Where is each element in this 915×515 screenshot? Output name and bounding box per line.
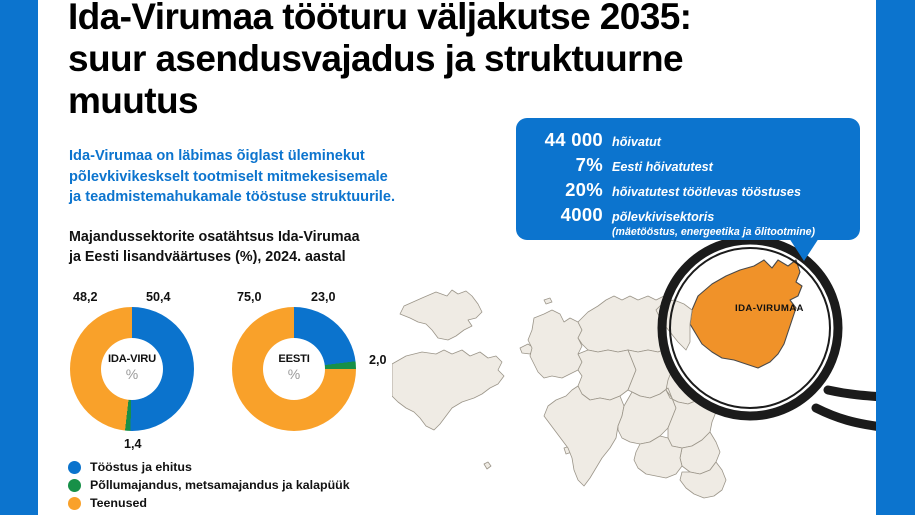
donut1-label-industry: 50,4: [146, 290, 171, 304]
lead-paragraph: Ida-Virumaa on läbimas õiglast ülemineku…: [69, 146, 489, 208]
legend-swatch-icon: [68, 461, 81, 474]
chart-title: Majandussektorite osatähtsus Ida-Virumaa…: [69, 227, 469, 267]
donut-center-unit: %: [126, 366, 138, 384]
county-raplamaa: [578, 350, 636, 400]
stat-row: 4000 põlevkivisektoris (mäetööstus, ener…: [516, 204, 846, 238]
legend-swatch-icon: [68, 497, 81, 510]
stat-row: 20% hõivatutest töötlevas tööstuses: [516, 179, 846, 201]
stat-label-group: põlevkivisektoris (mäetööstus, energeeti…: [612, 208, 815, 238]
left-accent-bar: [0, 0, 38, 515]
donut-ring: IDA-VIRU %: [70, 307, 194, 431]
infographic-canvas: IDA-VIRUMAA 44 000 hõivatut 7% Eesti hõi…: [0, 0, 915, 515]
legend-item-services: Teenused: [68, 494, 350, 512]
stat-label: hõivatutest töötlevas tööstuses: [612, 184, 801, 200]
stats-callout: 44 000 hõivatut 7% Eesti hõivatutest 20%…: [516, 118, 860, 240]
stat-value: 7%: [516, 154, 612, 176]
donut-center-unit: %: [288, 366, 300, 384]
donut2-label-services: 75,0: [237, 290, 262, 304]
donut1-label-services: 48,2: [73, 290, 98, 304]
ida-virumaa-map-label: IDA-VIRUMAA: [735, 303, 804, 314]
donut1-label-agriculture: 1,4: [124, 437, 142, 451]
stat-label: põlevkivisektoris: [612, 210, 714, 224]
legend-item-industry: Tööstus ja ehitus: [68, 458, 350, 476]
chart-legend: Tööstus ja ehitus Põllumajandus, metsama…: [68, 458, 350, 512]
stat-row: 44 000 hõivatut: [516, 129, 846, 151]
county-laanemaa: [528, 310, 582, 378]
donut-center-label: IDA-VIRU: [108, 354, 156, 365]
stat-value: 4000: [516, 204, 612, 226]
donut2-label-agriculture: 2,0: [369, 353, 387, 367]
donut-chart-eesti: EESTI %: [232, 307, 356, 431]
stats-callout-tail: [789, 238, 819, 261]
county-saaremaa: [392, 350, 504, 430]
page-title: Ida-Virumaa tööturu väljakutse 2035: suu…: [68, 0, 858, 121]
legend-swatch-icon: [68, 479, 81, 492]
donut-chart-ida-viru: IDA-VIRU %: [70, 307, 194, 431]
donut2-label-industry: 23,0: [311, 290, 336, 304]
legend-label: Tööstus ja ehitus: [90, 460, 192, 474]
islet-ruhnu: [484, 462, 491, 469]
magnifier: [640, 238, 915, 478]
donut-center-label: EESTI: [278, 354, 309, 365]
stat-label: hõivatut: [612, 134, 661, 150]
stat-sublabel: (mäetööstus, energeetika ja õlitootmine): [612, 226, 815, 238]
donut-center: EESTI %: [263, 338, 325, 400]
stat-row: 7% Eesti hõivatutest: [516, 154, 846, 176]
legend-label: Põllumajandus, metsamajandus ja kalapüük: [90, 478, 350, 492]
donut-ring: EESTI %: [232, 307, 356, 431]
stat-value: 44 000: [516, 129, 612, 151]
islet-osmussaar: [544, 298, 552, 304]
right-accent-bar: [876, 0, 915, 515]
magnifier-svg: [640, 238, 915, 478]
county-hiiumaa: [400, 290, 482, 340]
stat-label: Eesti hõivatutest: [612, 159, 713, 175]
county-parnumaa: [544, 386, 624, 486]
legend-item-agriculture: Põllumajandus, metsamajandus ja kalapüük: [68, 476, 350, 494]
stat-value: 20%: [516, 179, 612, 201]
donut-center: IDA-VIRU %: [101, 338, 163, 400]
legend-label: Teenused: [90, 496, 147, 510]
